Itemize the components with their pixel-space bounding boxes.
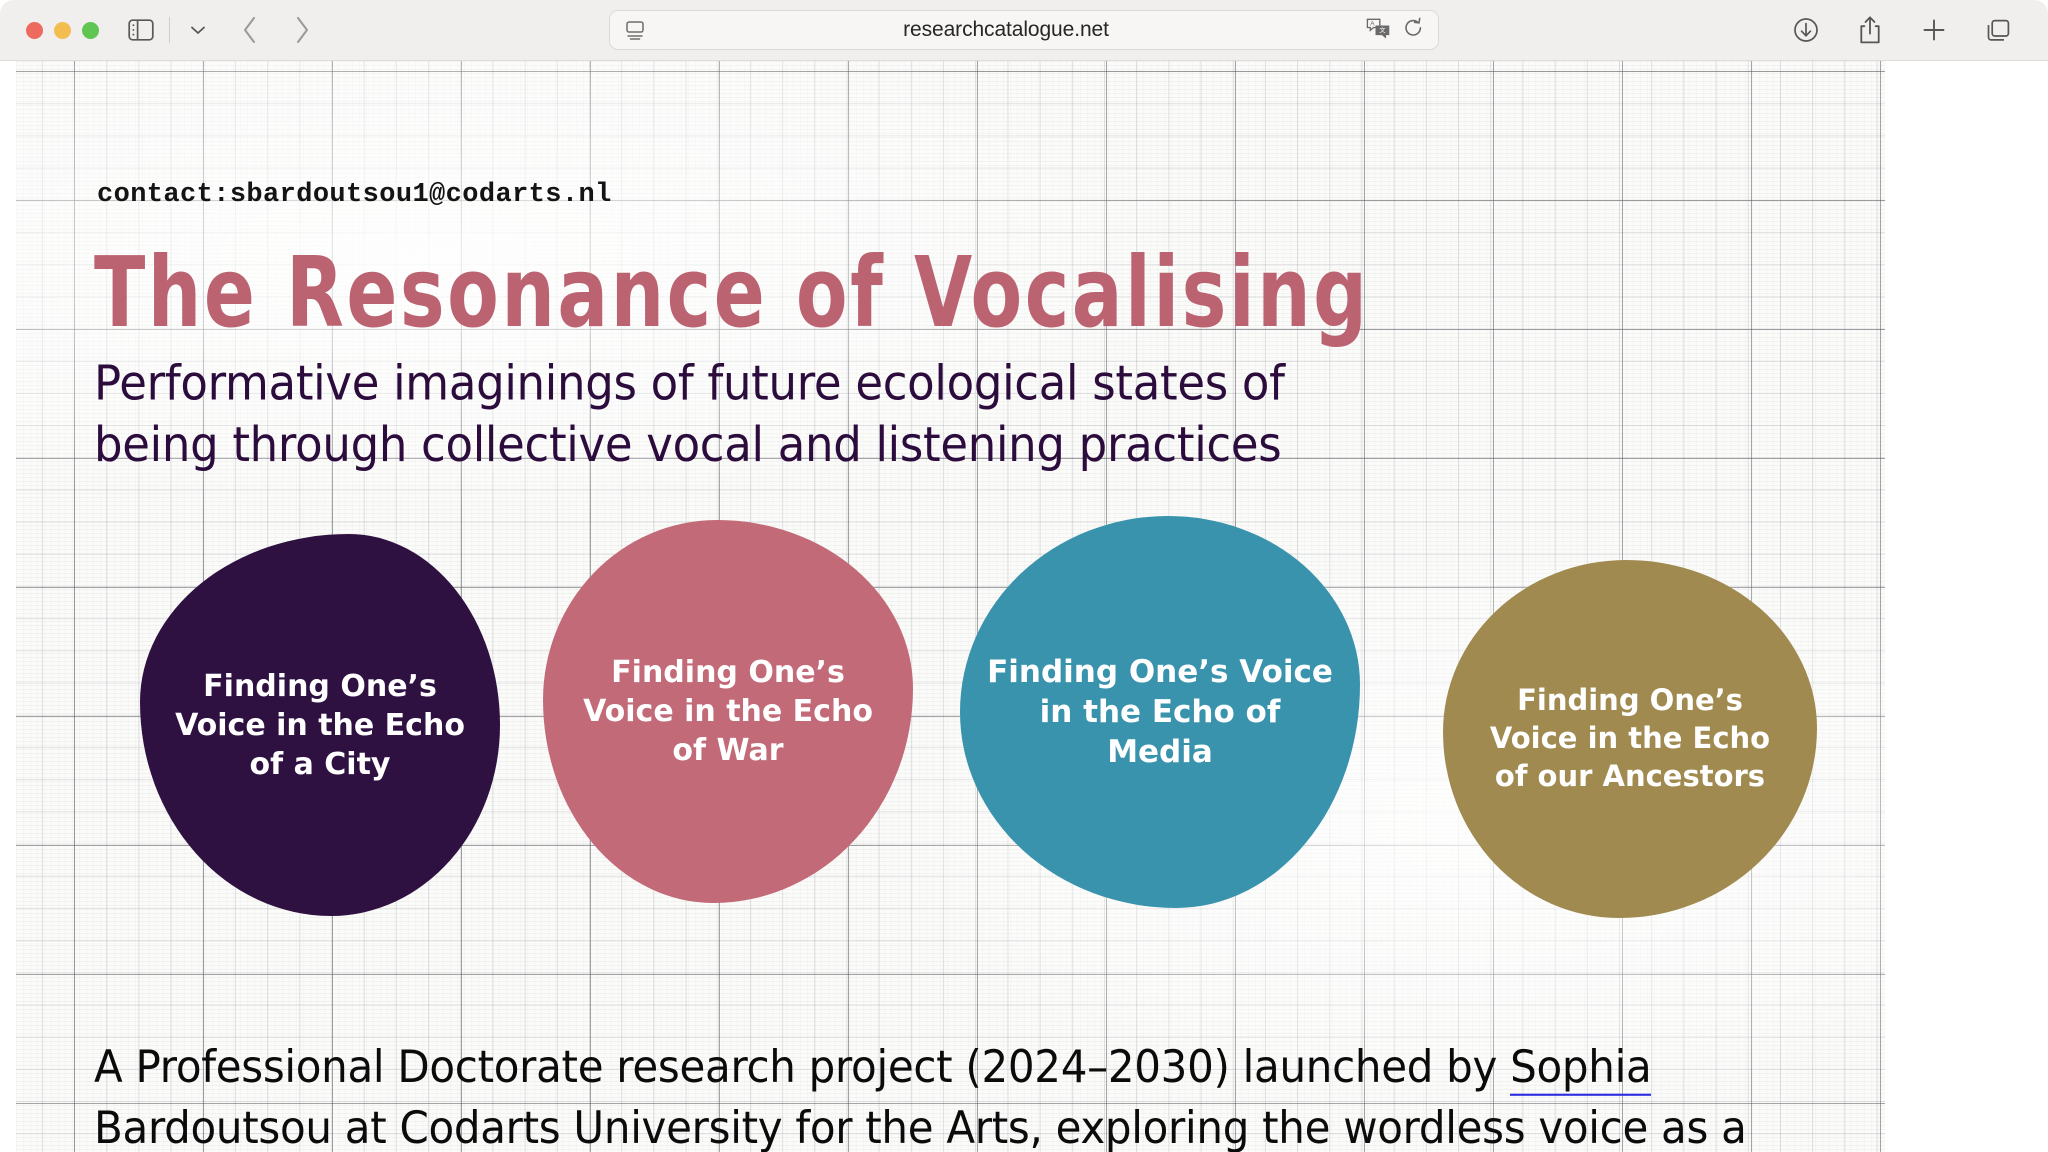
blob-card-war[interactable]: Finding One’s Voice in the Echo of War xyxy=(543,520,913,903)
blob-label-media: Finding One’s Voice in the Echo of Media xyxy=(986,652,1334,773)
page-subtitle: Performative imaginings of future ecolog… xyxy=(94,353,1294,475)
browser-toolbar: researchcatalogue.net A 文 xyxy=(0,0,2048,61)
reader-view-icon[interactable] xyxy=(624,19,646,41)
translate-icon[interactable]: A 文 xyxy=(1366,17,1390,43)
close-window-button[interactable] xyxy=(26,22,43,39)
page-title: The Resonance of Vocalising xyxy=(94,244,1369,341)
share-icon[interactable] xyxy=(1852,13,1888,47)
description-tail: at Codarts University for the Arts, expl… xyxy=(94,1102,1747,1152)
blob-card-media[interactable]: Finding One’s Voice in the Echo of Media xyxy=(960,516,1360,908)
page-content: contact:sbardoutsou1@codarts.nl The Reso… xyxy=(0,61,2048,1152)
blob-label-war: Finding One’s Voice in the Echo of War xyxy=(569,653,887,770)
plus-icon[interactable] xyxy=(1916,13,1952,47)
chevron-down-icon[interactable] xyxy=(180,13,216,47)
page-viewport: contact:sbardoutsou1@codarts.nl The Reso… xyxy=(0,61,2048,1152)
address-bar-url[interactable]: researchcatalogue.net xyxy=(646,18,1366,42)
tabs-icon[interactable] xyxy=(1980,13,2016,47)
contact-email[interactable]: contact:sbardoutsou1@codarts.nl xyxy=(97,180,612,210)
blob-card-city[interactable]: Finding One’s Voice in the Echo of a Cit… xyxy=(140,534,500,916)
safari-window: researchcatalogue.net A 文 xyxy=(0,0,2048,1152)
toolbar-divider xyxy=(169,17,170,43)
blob-label-city: Finding One’s Voice in the Echo of a Cit… xyxy=(166,667,474,784)
blob-label-ancestors: Finding One’s Voice in the Echo of our A… xyxy=(1469,682,1791,795)
back-button[interactable] xyxy=(232,13,268,47)
blob-card-ancestors[interactable]: Finding One’s Voice in the Echo of our A… xyxy=(1443,560,1817,918)
address-bar[interactable]: researchcatalogue.net A 文 xyxy=(609,10,1439,50)
forward-button[interactable] xyxy=(284,13,320,47)
reload-icon[interactable] xyxy=(1403,17,1424,44)
address-bar-actions: A 文 xyxy=(1366,17,1424,44)
navigation-arrows xyxy=(232,13,320,47)
minimize-window-button[interactable] xyxy=(54,22,71,39)
description-lead: A Professional Doctorate research projec… xyxy=(94,1041,1510,1092)
download-icon[interactable] xyxy=(1788,13,1824,47)
svg-text:文: 文 xyxy=(1379,27,1385,35)
toolbar-right-actions xyxy=(1788,13,2022,47)
window-traffic-lights xyxy=(26,22,99,39)
project-description: A Professional Doctorate research projec… xyxy=(94,1037,1884,1152)
project-strand-blobs: Finding One’s Voice in the Echo of a Cit… xyxy=(130,516,1890,916)
sidebar-toggle-icon[interactable] xyxy=(123,13,159,47)
svg-text:A: A xyxy=(1370,21,1375,28)
zoom-window-button[interactable] xyxy=(82,22,99,39)
